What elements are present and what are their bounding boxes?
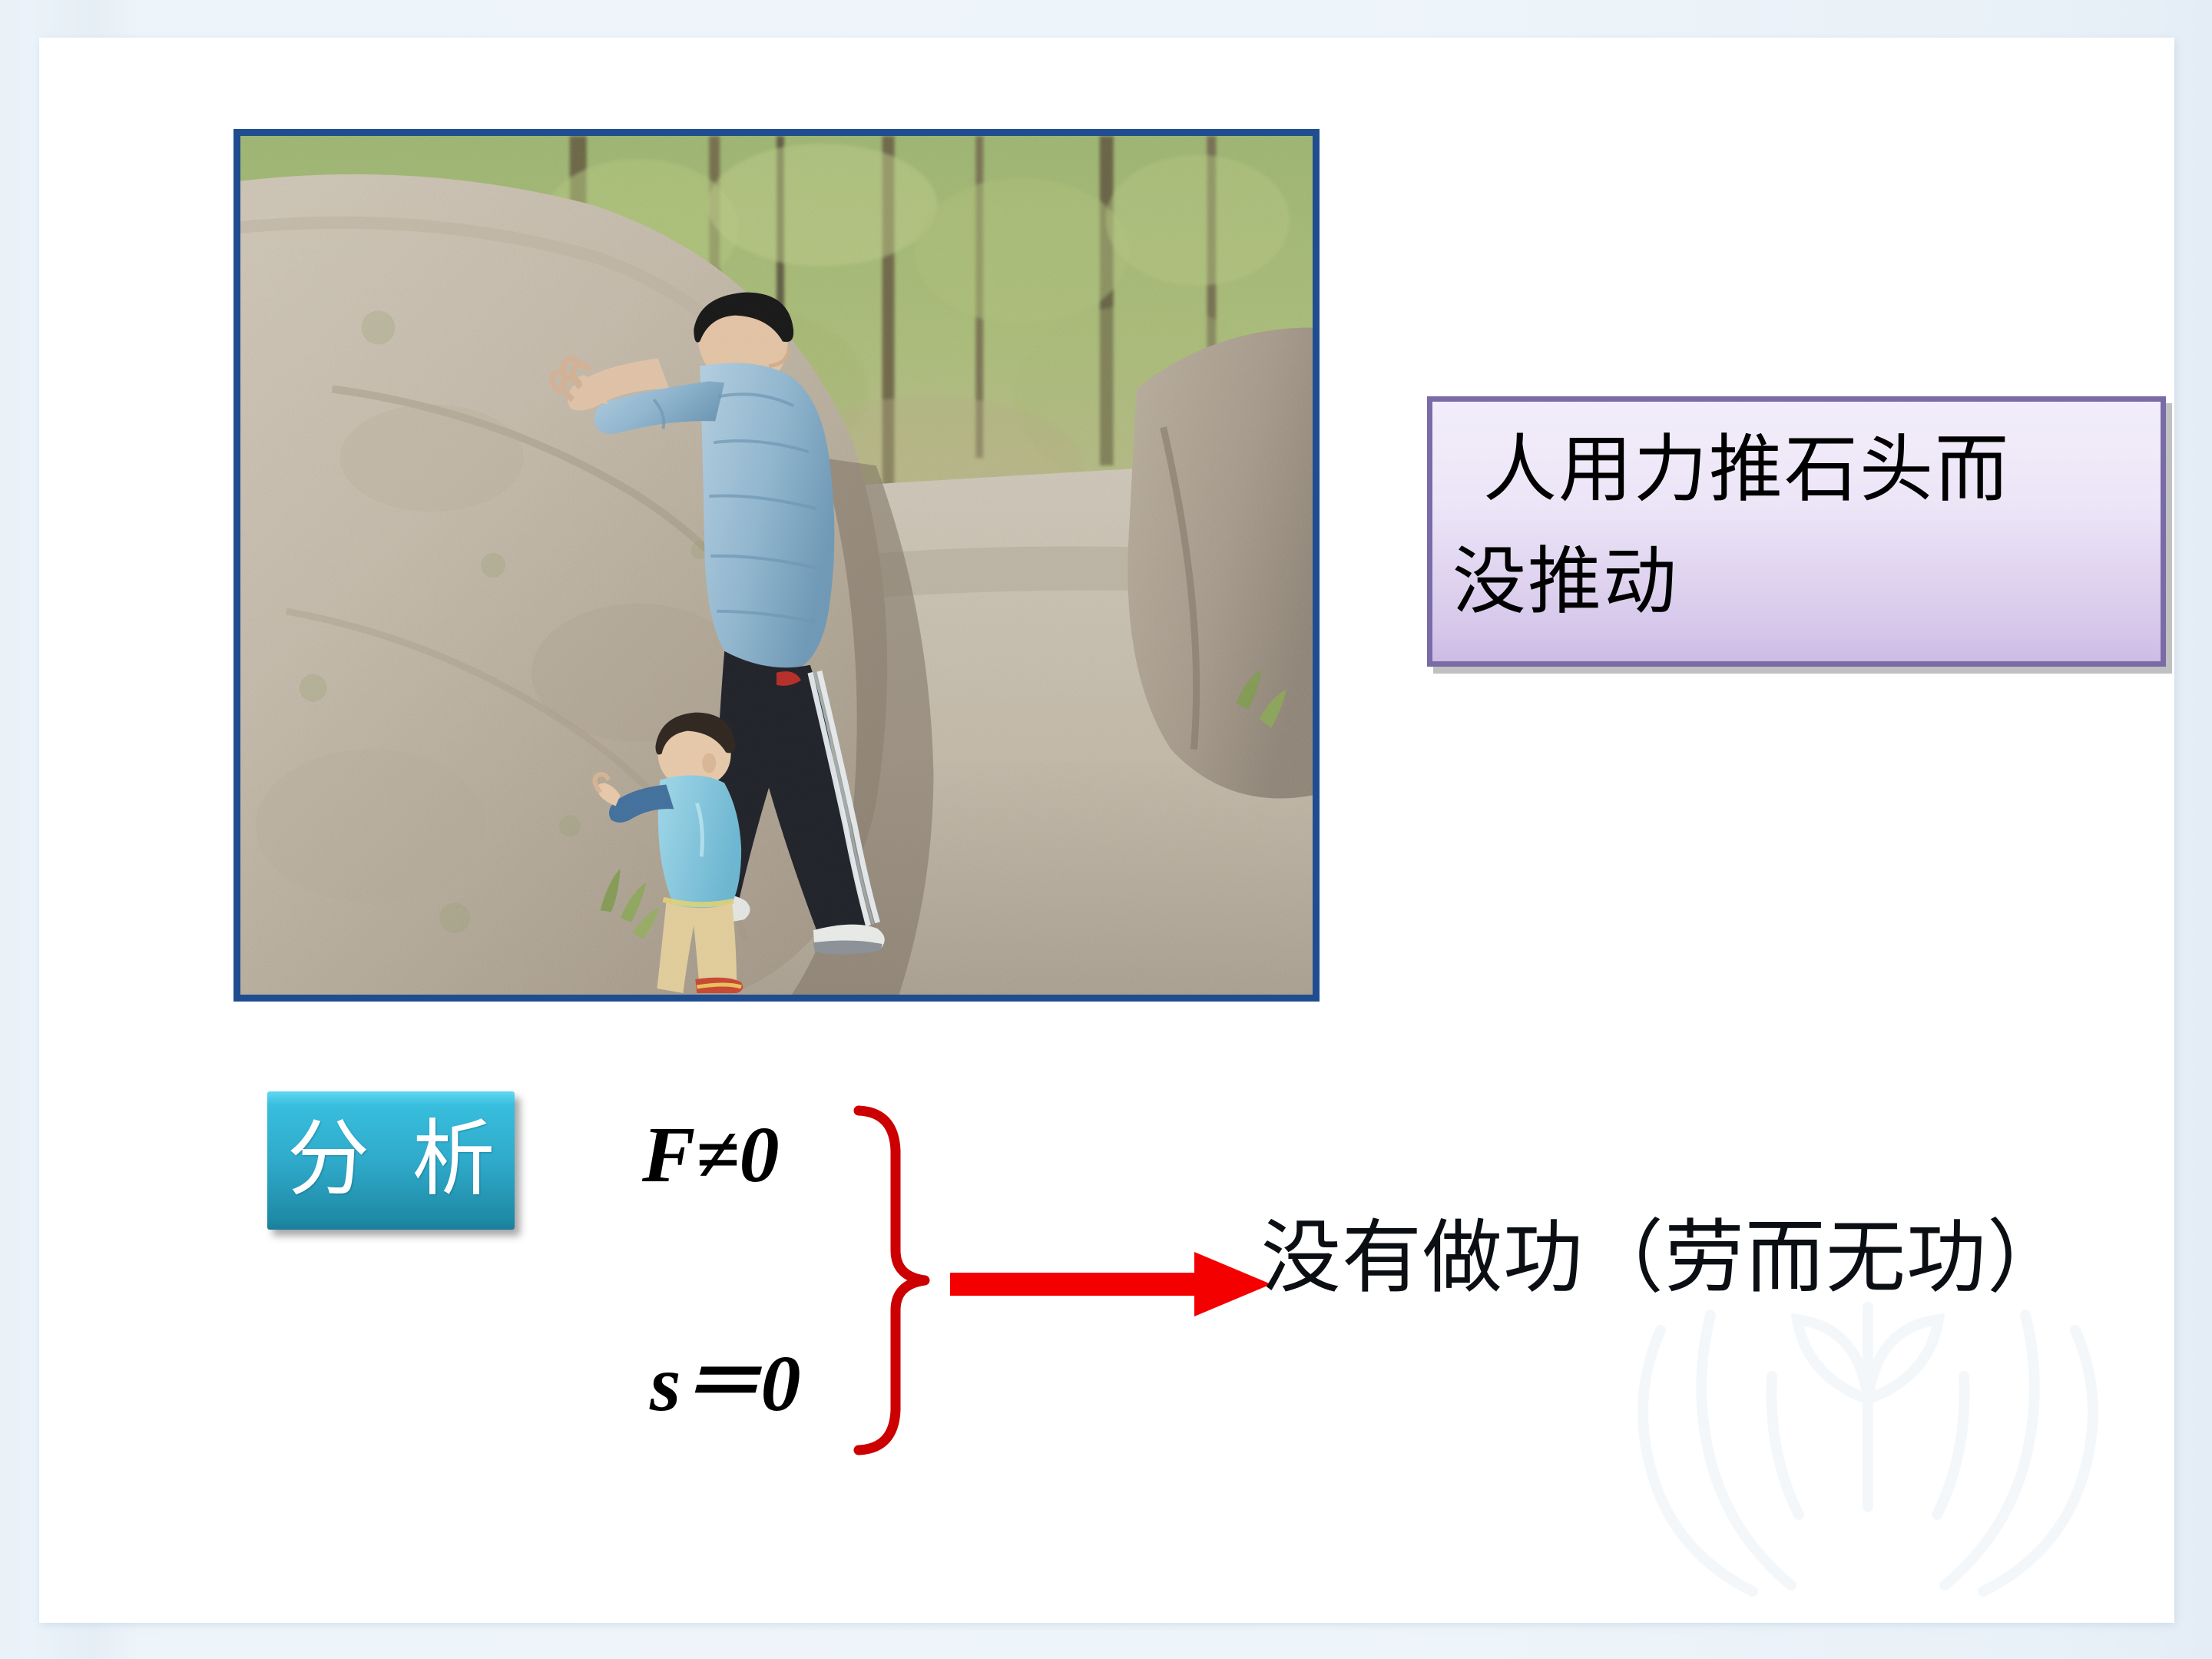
caption-line-1: 人用力推石头而: [1452, 414, 2141, 526]
red-right-arrow-icon: [950, 1246, 1273, 1323]
caption-line-2: 没推动: [1452, 526, 2141, 638]
formula-distance: s＝0: [650, 1344, 800, 1424]
analysis-badge[interactable]: 分 析: [267, 1091, 515, 1230]
caption-box: 人用力推石头而 没推动: [1427, 396, 2166, 667]
hands-sprout-watermark: [1576, 1284, 2160, 1614]
conclusion-text: 没有做功（劳而无功）: [1261, 1212, 2068, 1306]
photo-image: [240, 136, 1313, 995]
formula-group: F≠0 s＝0: [639, 1114, 931, 1436]
slide-surface: 人用力推石头而 没推动 分 析 F≠0 s＝0 没有做功（劳而无功）: [40, 38, 2174, 1622]
photo-illustration: [240, 136, 1313, 995]
person-pushing-boulder-photo: [233, 129, 1320, 1002]
analysis-badge-label: 分 析: [276, 1119, 505, 1202]
slide-canvas: 人用力推石头而 没推动 分 析 F≠0 s＝0 没有做功（劳而无功）: [0, 0, 2212, 1659]
red-curly-brace-icon: [845, 1100, 937, 1461]
formula-force: F≠0: [642, 1115, 779, 1195]
